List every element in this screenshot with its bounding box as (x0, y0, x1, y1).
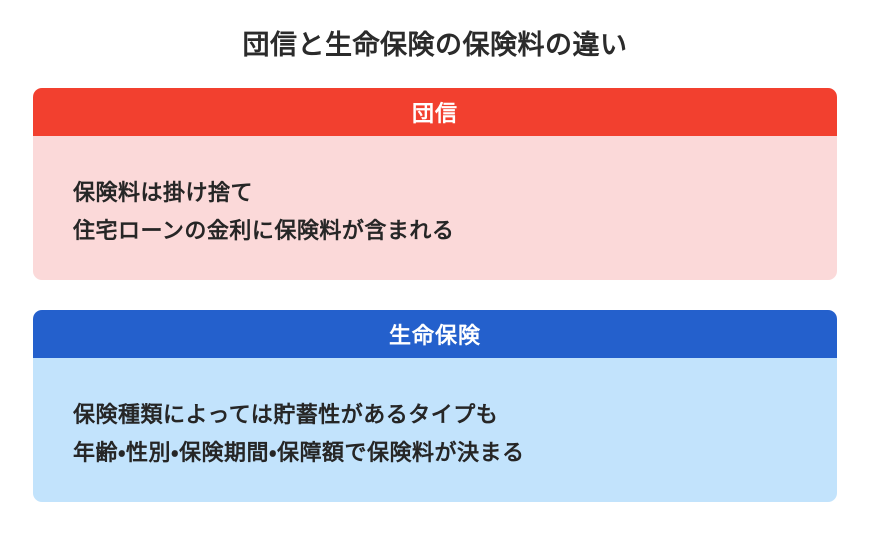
comparison-card-dantai: 団信 保険料は掛け捨て 住宅ローンの金利に保険料が含まれる (33, 88, 837, 280)
card-header-dantai: 団信 (33, 88, 837, 136)
comparison-card-seimei-hoken: 生命保険 保険種類によっては貯蓄性があるタイプも 年齢・性別・保険期間・保障額で… (33, 310, 837, 502)
card-body-line: 年齢・性別・保険期間・保障額で保険料が決まる (73, 434, 837, 472)
card-body-line: 保険種類によっては貯蓄性があるタイプも (73, 396, 837, 434)
card-body-seimei-hoken: 保険種類によっては貯蓄性があるタイプも 年齢・性別・保険期間・保障額で保険料が決… (33, 358, 837, 502)
card-body-line: 保険料は掛け捨て (73, 174, 837, 212)
infographic-canvas: 団信と生命保険の保険料の違い 団信 保険料は掛け捨て 住宅ローンの金利に保険料が… (0, 0, 870, 534)
card-body-dantai: 保険料は掛け捨て 住宅ローンの金利に保険料が含まれる (33, 136, 837, 280)
page-title: 団信と生命保険の保険料の違い (0, 28, 870, 62)
card-body-line: 住宅ローンの金利に保険料が含まれる (73, 212, 837, 250)
card-header-seimei-hoken: 生命保険 (33, 310, 837, 358)
